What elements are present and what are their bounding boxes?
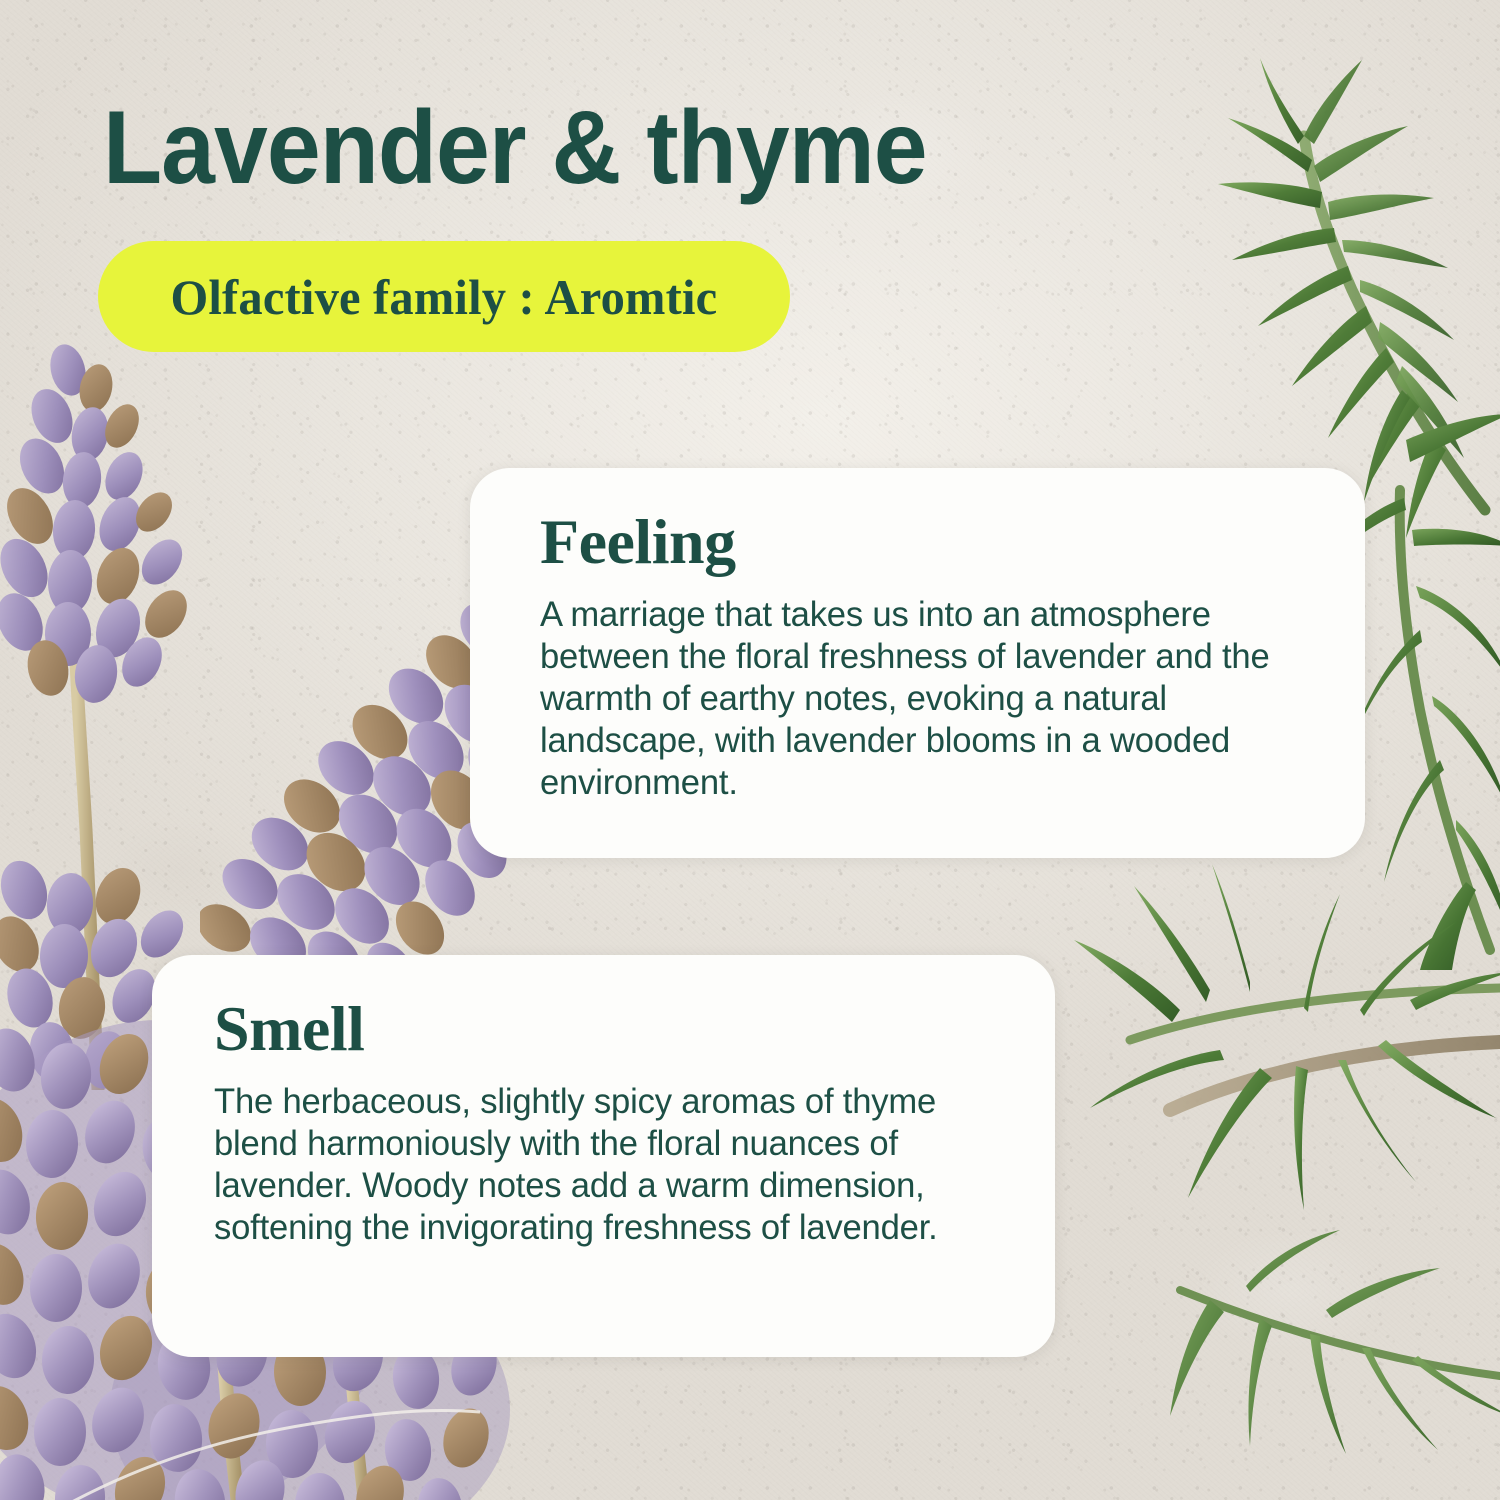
infographic-page: Lavender & thyme Olfactive family : Arom… bbox=[0, 0, 1500, 1500]
olfactive-family-badge-label: Olfactive family : Aromtic bbox=[171, 268, 718, 326]
smell-card-heading: Smell bbox=[214, 995, 1015, 1062]
page-title: Lavender & thyme bbox=[103, 96, 927, 200]
feeling-card: Feeling A marriage that takes us into an… bbox=[470, 468, 1365, 858]
olfactive-family-badge: Olfactive family : Aromtic bbox=[98, 241, 790, 352]
smell-card: Smell The herbaceous, slightly spicy aro… bbox=[152, 955, 1055, 1357]
smell-card-body: The herbaceous, slightly spicy aromas of… bbox=[214, 1080, 995, 1248]
feeling-card-body: A marriage that takes us into an atmosph… bbox=[540, 593, 1311, 803]
feeling-card-heading: Feeling bbox=[540, 508, 1331, 575]
